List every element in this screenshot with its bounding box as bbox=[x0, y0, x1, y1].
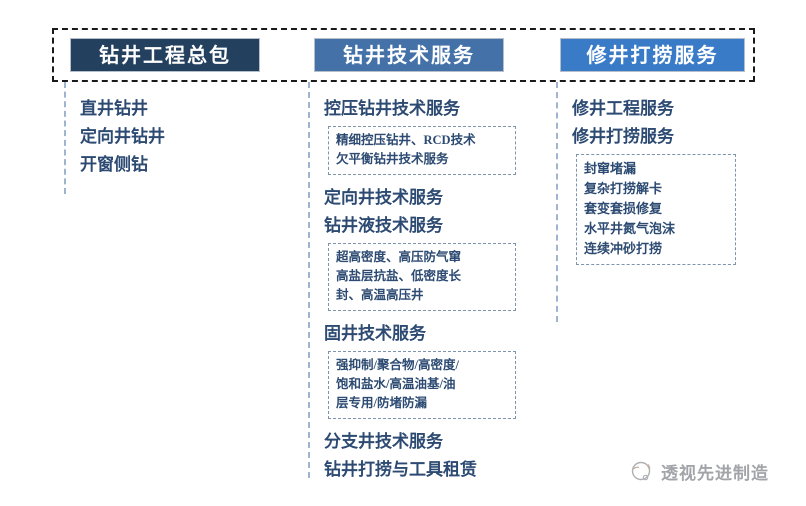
detail-line: 超高密度、高压防气窜 bbox=[336, 248, 508, 267]
detail-box: 超高密度、高压防气窜 高盐层抗盐、低密度长 封、高温高压井 bbox=[328, 243, 516, 311]
detail-line: 精细控压钻井、RCD技术 bbox=[336, 131, 508, 150]
detail-line: 高盐层抗盐、低密度长 bbox=[336, 267, 508, 286]
detail-line: 欠平衡钻井技术服务 bbox=[336, 150, 508, 169]
detail-box: 强抑制/聚合物/高密度/ 饱和盐水/高温油基/油 层专用/防堵防漏 bbox=[328, 351, 516, 419]
column-body-3: 修井工程服务 修井打捞服务 封窜堵漏 复杂打捞解卡 套变套损修复 水平井氮气泡沫… bbox=[572, 96, 772, 275]
diagram-canvas: 钻井工程总包 钻井技术服务 修井打捞服务 直井钻井 定向井钻井 开窗侧钻 控压钻… bbox=[0, 0, 806, 506]
column-divider-3 bbox=[556, 82, 558, 322]
detail-line: 层专用/防堵防漏 bbox=[336, 394, 508, 413]
list-item: 钻井液技术服务 bbox=[324, 213, 544, 239]
detail-line: 水平井氮气泡沫 bbox=[584, 219, 728, 239]
list-item: 开窗侧钻 bbox=[80, 152, 300, 178]
list-item: 修井工程服务 bbox=[572, 96, 772, 122]
column-divider-2 bbox=[308, 82, 310, 478]
detail-line: 连续冲砂打捞 bbox=[584, 239, 728, 259]
list-item: 修井打捞服务 bbox=[572, 124, 772, 150]
detail-line: 强抑制/聚合物/高密度/ bbox=[336, 356, 508, 375]
detail-box: 封窜堵漏 复杂打捞解卡 套变套损修复 水平井氮气泡沫 连续冲砂打捞 bbox=[576, 154, 736, 265]
column-body-2: 控压钻井技术服务 精细控压钻井、RCD技术 欠平衡钻井技术服务 定向井技术服务 … bbox=[324, 96, 544, 485]
column-divider-1 bbox=[64, 82, 66, 194]
column-header-workover-fishing-service: 修井打捞服务 bbox=[560, 38, 745, 72]
circle-logo-icon bbox=[628, 458, 654, 484]
detail-line: 饱和盐水/高温油基/油 bbox=[336, 375, 508, 394]
watermark: 透视先进制造 bbox=[628, 458, 769, 484]
list-item: 定向井技术服务 bbox=[324, 185, 544, 211]
list-item: 分支井技术服务 bbox=[324, 429, 544, 455]
detail-line: 套变套损修复 bbox=[584, 199, 728, 219]
detail-box: 精细控压钻井、RCD技术 欠平衡钻井技术服务 bbox=[328, 126, 516, 175]
list-item: 钻井打捞与工具租赁 bbox=[324, 457, 544, 483]
column-body-1: 直井钻井 定向井钻井 开窗侧钻 bbox=[80, 96, 300, 180]
list-item: 固井技术服务 bbox=[324, 321, 544, 347]
list-item: 定向井钻井 bbox=[80, 124, 300, 150]
column-header-drilling-tech-service: 钻井技术服务 bbox=[314, 38, 504, 72]
detail-line: 封窜堵漏 bbox=[584, 159, 728, 179]
detail-line: 复杂打捞解卡 bbox=[584, 179, 728, 199]
watermark-text: 透视先进制造 bbox=[661, 459, 769, 484]
list-item: 控压钻井技术服务 bbox=[324, 96, 544, 122]
column-header-drilling-epc: 钻井工程总包 bbox=[70, 38, 260, 72]
detail-line: 封、高温高压井 bbox=[336, 286, 508, 305]
list-item: 直井钻井 bbox=[80, 96, 300, 122]
